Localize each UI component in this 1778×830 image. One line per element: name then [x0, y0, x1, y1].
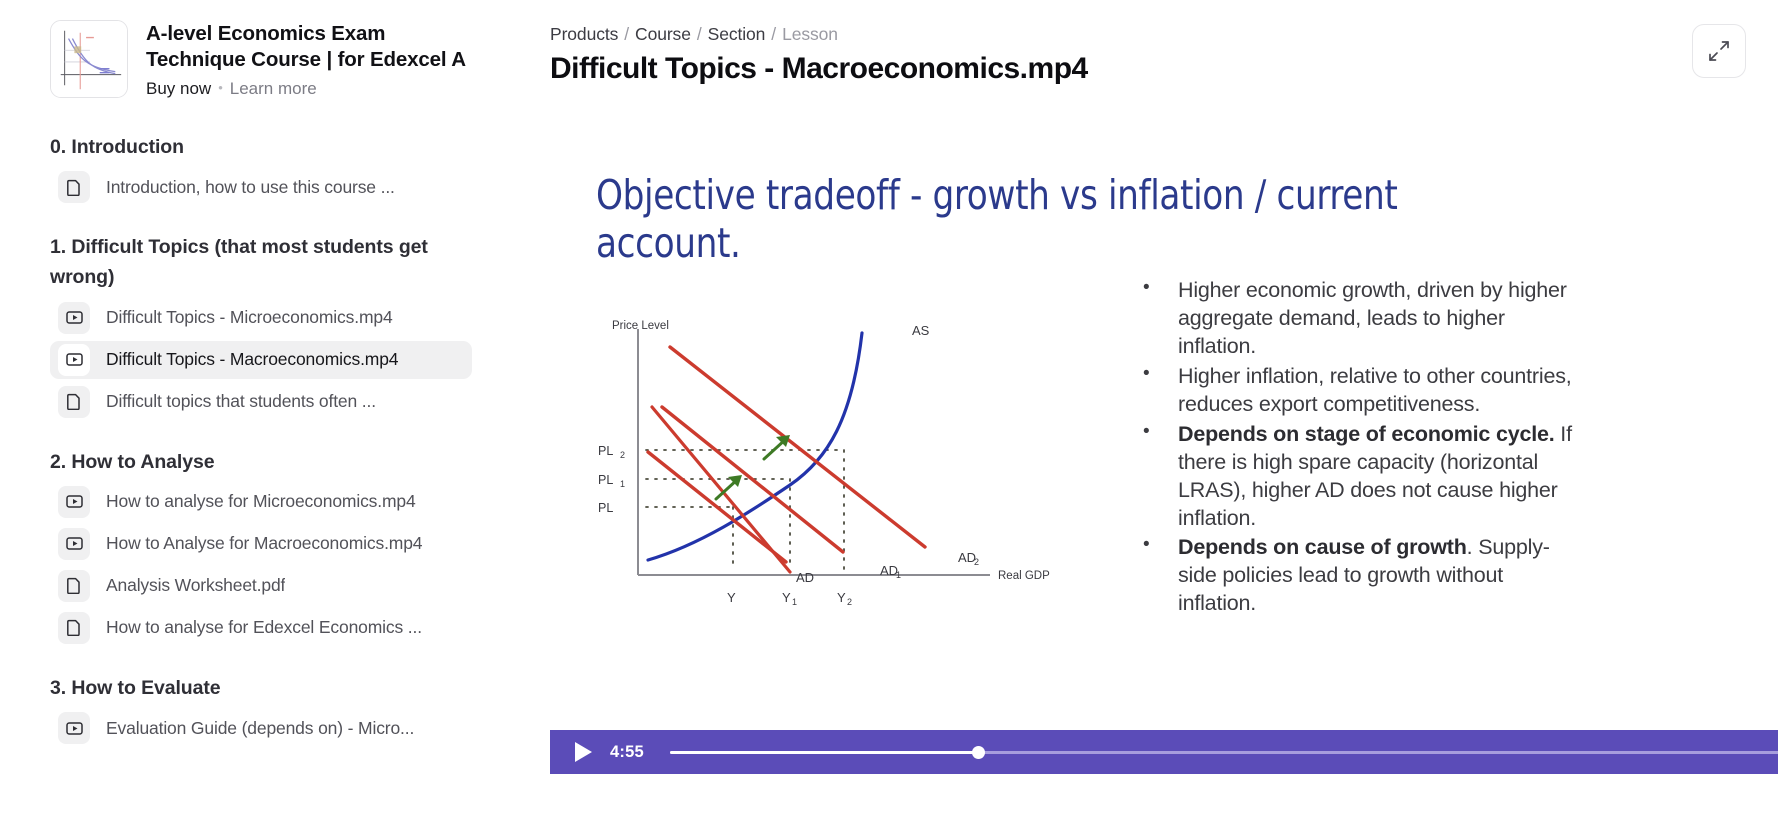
- y-tick-pl1-sub: 1: [620, 479, 625, 489]
- document-icon: [58, 570, 90, 602]
- lesson-label: Difficult Topics - Macroeconomics.mp4: [106, 349, 398, 370]
- bullet-text: Higher economic growth, driven by higher…: [1178, 278, 1567, 358]
- progress-fill: [670, 751, 978, 754]
- section-title: 3. How to Evaluate: [50, 673, 470, 703]
- document-icon: [58, 612, 90, 644]
- breadcrumb-separator: /: [771, 24, 776, 44]
- document-icon: [58, 171, 90, 203]
- ad-as-diagram: Price Level Real GDP AS AD AD 1 AD 2 PL …: [590, 307, 1060, 627]
- breadcrumb-separator: /: [697, 24, 702, 44]
- lesson-main: Products/Course/Section/Lesson Difficult…: [540, 0, 1778, 830]
- lesson-player-page: A-level Economics Exam Technique Course …: [0, 0, 1778, 830]
- y-axis-label: Price Level: [612, 320, 669, 332]
- video-icon: [66, 493, 83, 510]
- x-tick-y1: Y: [782, 590, 791, 605]
- video-icon: [58, 528, 90, 560]
- course-sections: 0. IntroductionIntroduction, how to use …: [50, 132, 514, 747]
- economics-graph-thumbnail-icon: [51, 21, 127, 97]
- sidebar-lesson-item[interactable]: Difficult Topics - Microeconomics.mp4: [50, 299, 472, 337]
- x-tick-y1-sub: 1: [792, 597, 797, 607]
- video-icon: [58, 486, 90, 518]
- slide-bullet: Higher inflation, relative to other coun…: [1140, 363, 1580, 419]
- video-icon: [66, 720, 83, 737]
- course-thumbnail[interactable]: [50, 20, 128, 98]
- progress-handle[interactable]: [972, 746, 985, 759]
- breadcrumb: Products/Course/Section/Lesson: [550, 24, 1778, 45]
- course-section: 1. Difficult Topics (that most students …: [50, 232, 514, 420]
- course-links: Buy now•Learn more: [146, 80, 476, 97]
- course-section: 3. How to EvaluateEvaluation Guide (depe…: [50, 673, 514, 747]
- sidebar-lesson-item[interactable]: How to analyse for Edexcel Economics ...: [50, 609, 472, 647]
- video-icon: [66, 535, 83, 552]
- learn-more-link[interactable]: Learn more: [230, 79, 317, 98]
- course-header[interactable]: A-level Economics Exam Technique Course …: [50, 20, 514, 98]
- current-time-label: 4:55: [610, 743, 644, 762]
- document-icon: [58, 386, 90, 418]
- lesson-label: How to analyse for Edexcel Economics ...: [106, 617, 422, 638]
- bullet-bold-lead: Depends on cause of growth: [1178, 535, 1467, 559]
- y-tick-pl1: PL: [598, 473, 613, 487]
- lesson-label: Difficult Topics - Microeconomics.mp4: [106, 307, 393, 328]
- page-title: Difficult Topics - Macroeconomics.mp4: [550, 52, 1778, 86]
- y-tick-pl: PL: [598, 501, 613, 515]
- section-title: 0. Introduction: [50, 132, 470, 162]
- player-controls-bar: 4:55: [550, 730, 1778, 774]
- sidebar-lesson-item[interactable]: How to analyse for Microeconomics.mp4: [50, 483, 472, 521]
- expand-button[interactable]: [1692, 24, 1746, 78]
- section-title: 2. How to Analyse: [50, 447, 470, 477]
- curve-label-ad2-sub: 2: [974, 557, 979, 567]
- course-sidebar: A-level Economics Exam Technique Course …: [0, 0, 540, 830]
- bullet-bold-lead: Depends on stage of economic cycle.: [1178, 422, 1555, 446]
- lesson-label: Analysis Worksheet.pdf: [106, 575, 285, 596]
- breadcrumb-item-products[interactable]: Products: [550, 24, 618, 44]
- progress-scrubber[interactable]: [670, 743, 1778, 761]
- lesson-label: How to Analyse for Macroeconomics.mp4: [106, 533, 422, 554]
- bullet-text: Higher inflation, relative to other coun…: [1178, 364, 1572, 416]
- sidebar-lesson-item[interactable]: Introduction, how to use this course ...: [50, 168, 472, 206]
- course-title: A-level Economics Exam Technique Course …: [146, 21, 476, 73]
- slide-bullet: Depends on stage of economic cycle. If t…: [1140, 421, 1580, 533]
- ad-as-chart-svg: Price Level Real GDP AS AD AD 1 AD 2 PL …: [590, 307, 1060, 627]
- lesson-label: Difficult topics that students often ...: [106, 391, 376, 412]
- video-icon: [58, 344, 90, 376]
- lesson-label: How to analyse for Microeconomics.mp4: [106, 491, 416, 512]
- x-axis-label: Real GDP: [998, 570, 1050, 582]
- lesson-slide: Objective tradeoff - growth vs inflation…: [550, 122, 1778, 730]
- curve-label-ad1-sub: 1: [896, 570, 901, 580]
- course-section: 0. IntroductionIntroduction, how to use …: [50, 132, 514, 206]
- slide-bullet: Depends on cause of growth. Supply-side …: [1140, 534, 1580, 618]
- breadcrumb-separator: /: [624, 24, 629, 44]
- breadcrumb-item-section[interactable]: Section: [708, 24, 766, 44]
- lesson-label: Evaluation Guide (depends on) - Micro...: [106, 718, 414, 739]
- curve-label-as: AS: [912, 323, 930, 338]
- video-player[interactable]: Objective tradeoff - growth vs inflation…: [550, 122, 1778, 774]
- sidebar-lesson-item[interactable]: Difficult topics that students often ...: [50, 383, 472, 421]
- lesson-header: Products/Course/Section/Lesson Difficult…: [540, 0, 1778, 100]
- sidebar-lesson-item[interactable]: Evaluation Guide (depends on) - Micro...: [50, 709, 472, 747]
- breadcrumb-item-lesson: Lesson: [782, 24, 838, 44]
- link-separator-dot: •: [218, 80, 223, 95]
- document-icon: [66, 619, 82, 636]
- sidebar-lesson-item[interactable]: Difficult Topics - Macroeconomics.mp4: [50, 341, 472, 379]
- document-icon: [66, 393, 82, 410]
- expand-diagonal-icon: [1708, 40, 1730, 62]
- y-tick-pl2: PL: [598, 444, 613, 458]
- buy-now-link[interactable]: Buy now: [146, 79, 211, 98]
- sidebar-lesson-item[interactable]: How to Analyse for Macroeconomics.mp4: [50, 525, 472, 563]
- x-tick-y2-sub: 2: [847, 597, 852, 607]
- curve-label-ad: AD: [796, 570, 814, 585]
- play-icon: [573, 741, 593, 763]
- slide-bullet-list: Higher economic growth, driven by higher…: [1140, 277, 1580, 620]
- x-tick-y2: Y: [837, 590, 846, 605]
- document-icon: [66, 179, 82, 196]
- video-icon: [66, 309, 83, 326]
- x-tick-y: Y: [727, 590, 736, 605]
- course-meta: A-level Economics Exam Technique Course …: [146, 20, 476, 97]
- course-section: 2. How to AnalyseHow to analyse for Micr…: [50, 447, 514, 647]
- video-icon: [58, 712, 90, 744]
- sidebar-lesson-item[interactable]: Analysis Worksheet.pdf: [50, 567, 472, 605]
- section-title: 1. Difficult Topics (that most students …: [50, 232, 470, 292]
- play-button[interactable]: [570, 739, 596, 765]
- video-icon: [58, 302, 90, 334]
- slide-title: Objective tradeoff - growth vs inflation…: [596, 172, 1461, 268]
- y-tick-pl2-sub: 2: [620, 450, 625, 460]
- lesson-label: Introduction, how to use this course ...: [106, 177, 395, 198]
- video-icon: [66, 351, 83, 368]
- breadcrumb-item-course[interactable]: Course: [635, 24, 691, 44]
- slide-bullet: Higher economic growth, driven by higher…: [1140, 277, 1580, 361]
- document-icon: [66, 577, 82, 594]
